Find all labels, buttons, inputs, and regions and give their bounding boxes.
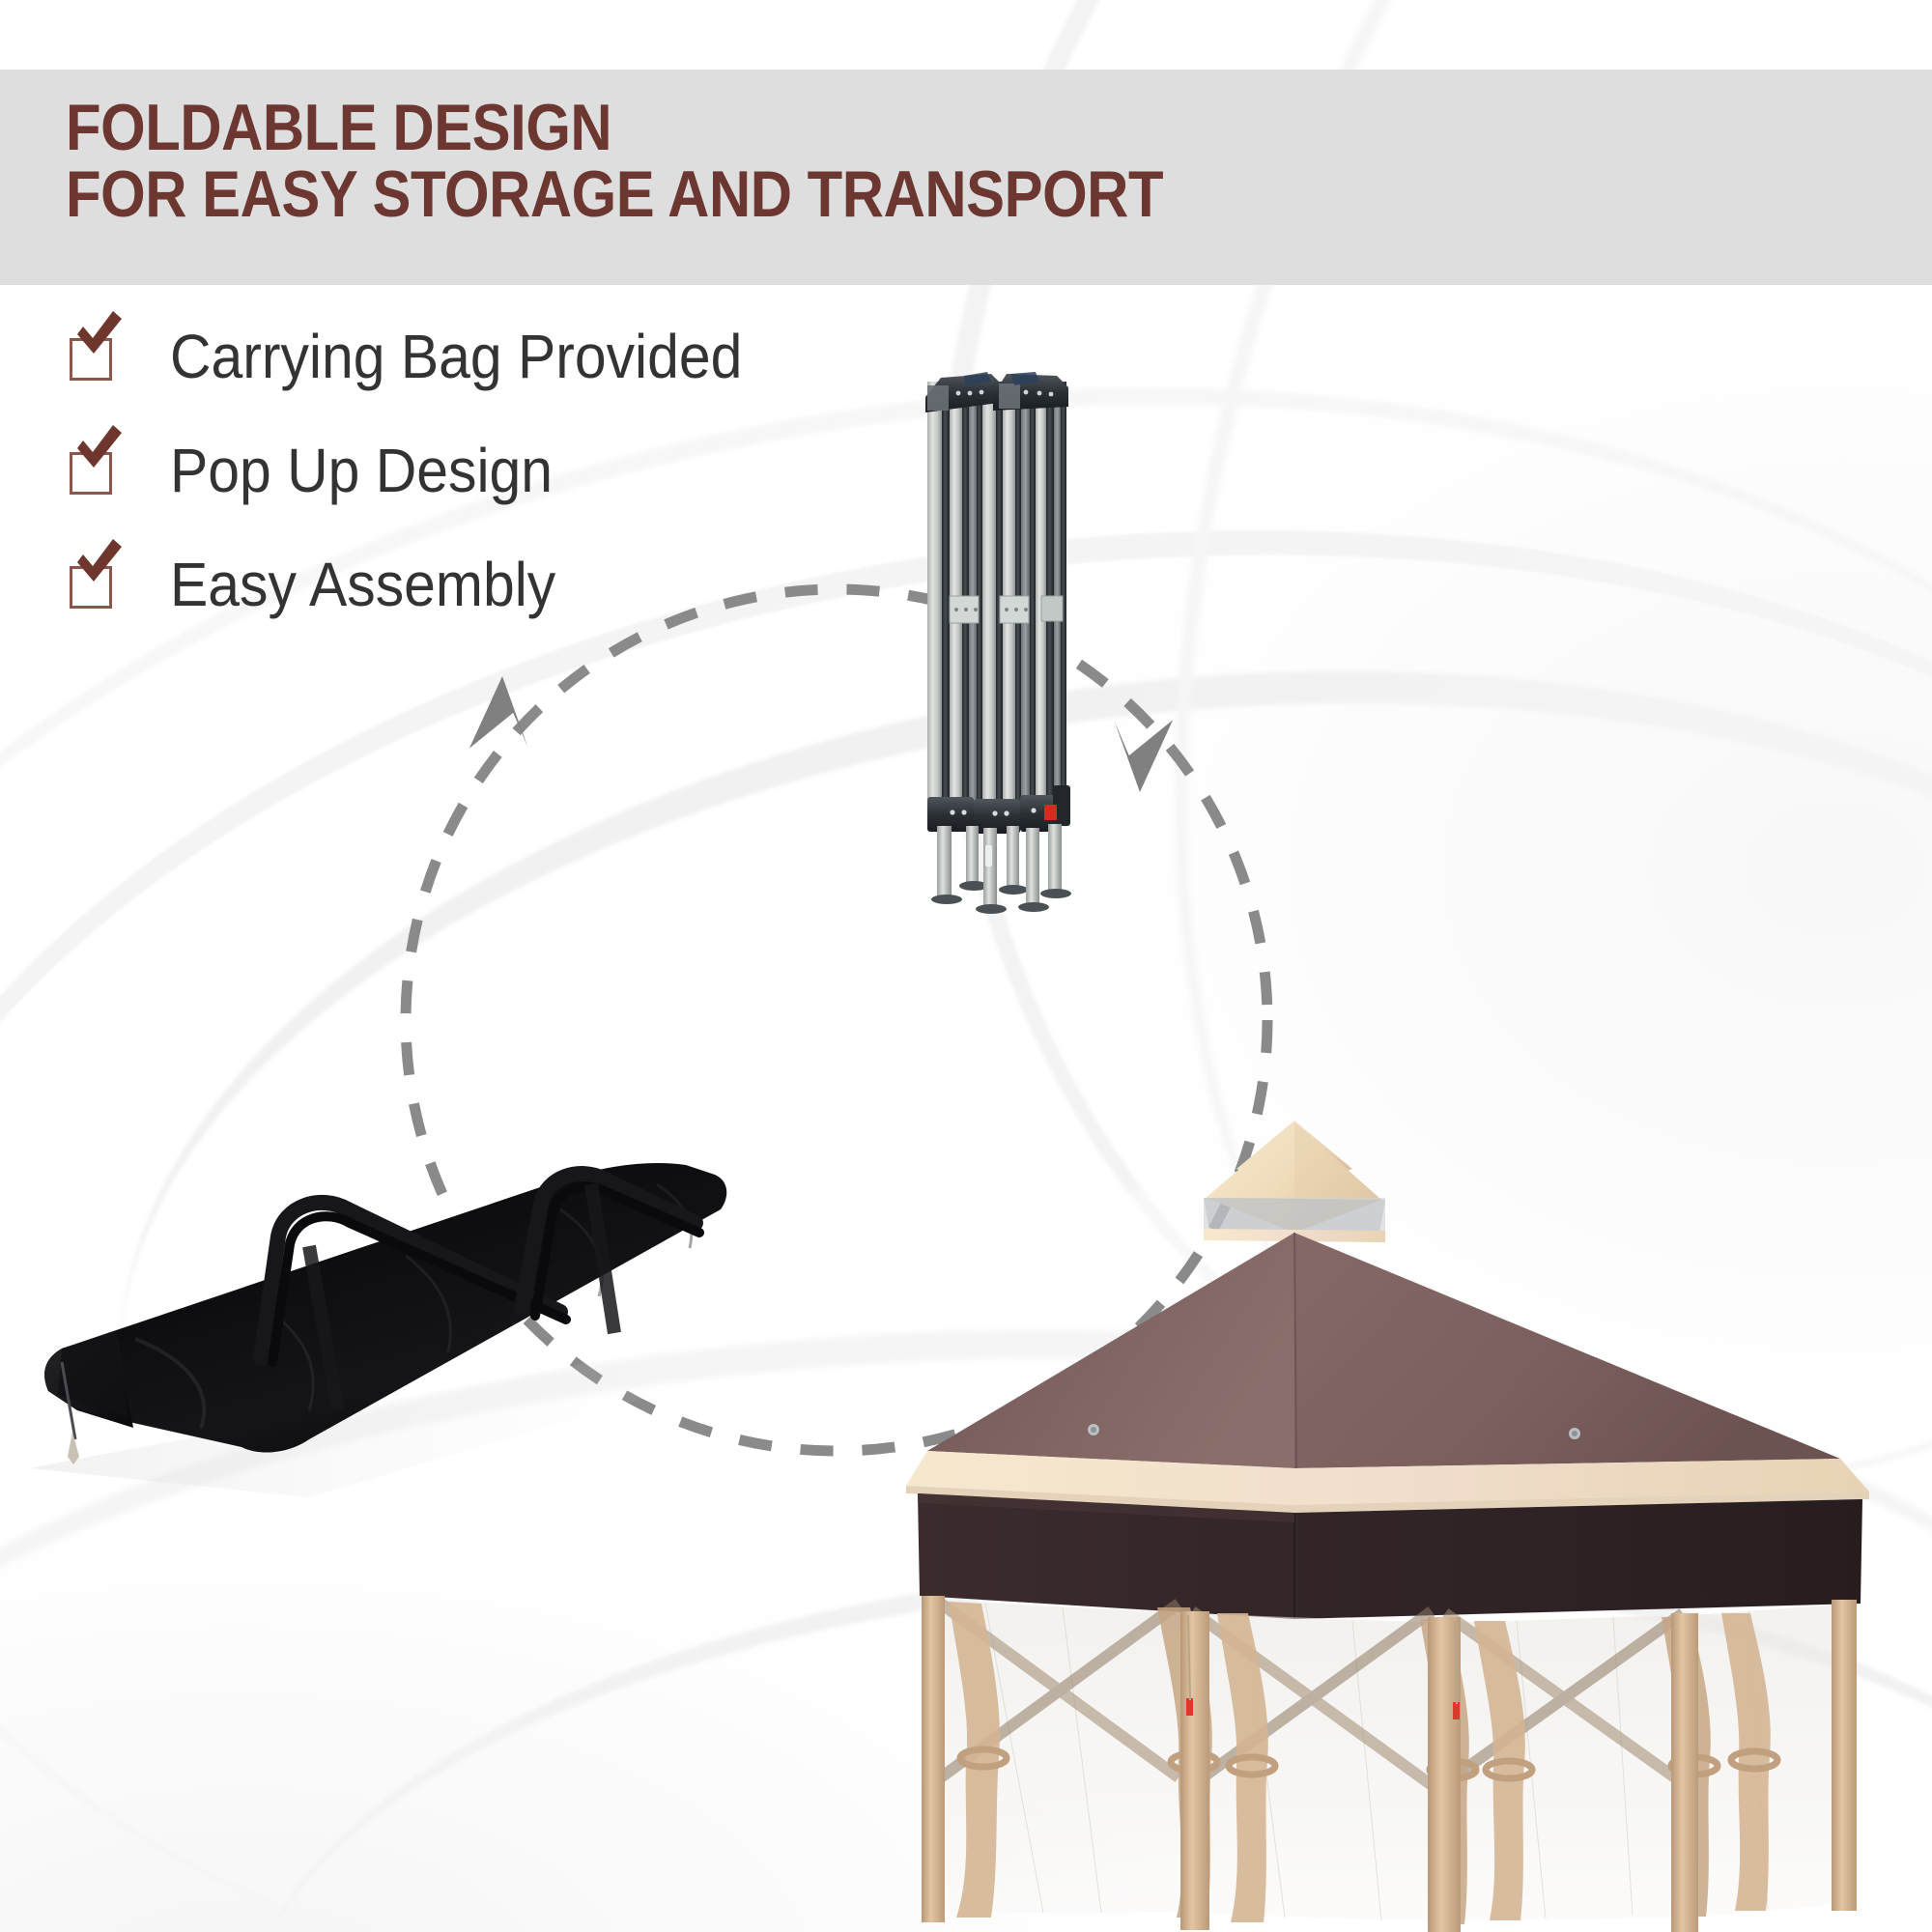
post-right <box>1832 1600 1857 1911</box>
telescoping-legs <box>931 824 1071 914</box>
mid-hinge-plates <box>950 596 1063 623</box>
post-left <box>922 1596 945 1922</box>
roof-vent-cap <box>1204 1121 1385 1242</box>
release-button <box>1044 805 1057 820</box>
carrying-bag <box>19 1121 753 1507</box>
product-infographic: FOLDABLE DESIGN FOR EASY STORAGE AND TRA… <box>0 0 1932 1932</box>
post-center-right <box>1671 1613 1698 1932</box>
top-bracket-assembly <box>925 372 1068 412</box>
arrow-to-folded-icon <box>451 676 552 778</box>
folded-gazebo-frame <box>898 343 1092 923</box>
gazebo-roof <box>927 1233 1840 1468</box>
post-center-left <box>1180 1611 1209 1930</box>
arrow-to-gazebo-icon <box>1091 691 1191 792</box>
pop-up-gazebo <box>898 1043 1874 1932</box>
valance-band <box>918 1493 1862 1619</box>
